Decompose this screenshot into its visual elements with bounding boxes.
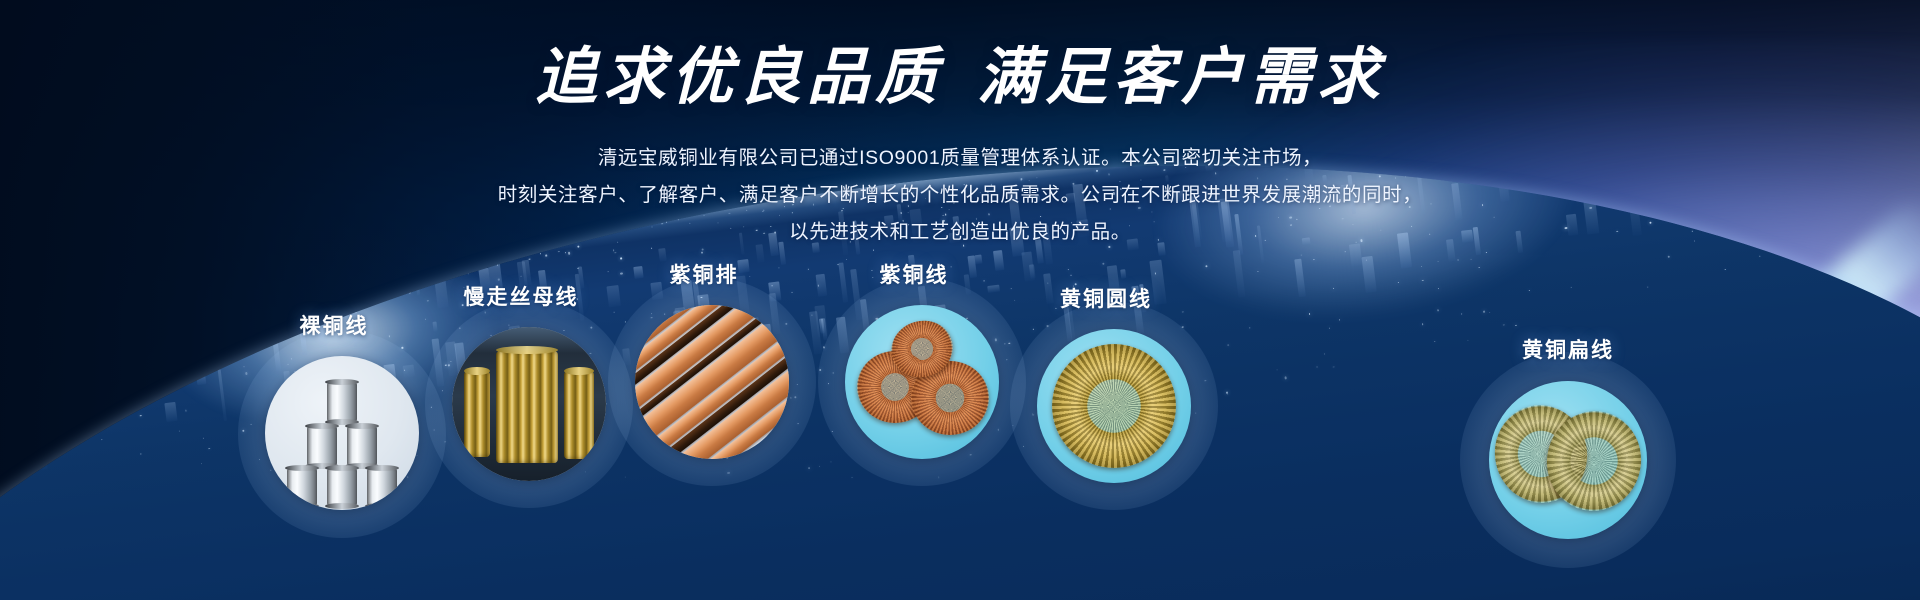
body-line-1: 清远宝威铜业有限公司已通过ISO9001质量管理体系认证。本公司密切关注市场， <box>0 140 1920 177</box>
product-label-1: 裸铜线 <box>300 310 369 340</box>
brass-wire-drum-icon <box>452 327 606 481</box>
copper-wire-coil-icon <box>845 305 999 459</box>
product-label-5: 黄铜圆线 <box>1060 283 1152 313</box>
product-label-6: 黄铜扁线 <box>1522 334 1614 364</box>
headline-part-1: 追求优良品质 <box>535 40 943 113</box>
headline-part-2: 满足客户需求 <box>977 40 1385 113</box>
banner-body-copy: 清远宝威铜业有限公司已通过ISO9001质量管理体系认证。本公司密切关注市场， … <box>0 140 1920 251</box>
product-disc-3 <box>635 305 789 459</box>
banner-headline: 追求优良品质满足客户需求 <box>0 44 1920 109</box>
product-label-2: 慢走丝母线 <box>464 281 579 311</box>
company-hero-banner: 裸铜线 慢走丝母线 <box>0 0 1920 600</box>
product-disc-5 <box>1037 329 1191 483</box>
body-line-2: 时刻关注客户、了解客户、满足客户不断增长的个性化品质需求。公司在不断跟进世界发展… <box>0 177 1920 214</box>
product-disc-2 <box>452 327 606 481</box>
silver-wire-spools-icon <box>265 356 419 510</box>
brass-round-wire-coil-icon <box>1037 329 1191 483</box>
product-disc-6 <box>1489 381 1647 539</box>
copper-busbar-icon <box>635 305 789 459</box>
product-disc-4 <box>845 305 999 459</box>
product-label-3: 紫铜排 <box>670 259 739 289</box>
product-disc-1 <box>265 356 419 510</box>
body-line-3: 以先进技术和工艺创造出优良的产品。 <box>0 214 1920 251</box>
brass-flat-wire-coil-icon <box>1489 381 1647 539</box>
product-label-4: 紫铜线 <box>880 259 949 289</box>
